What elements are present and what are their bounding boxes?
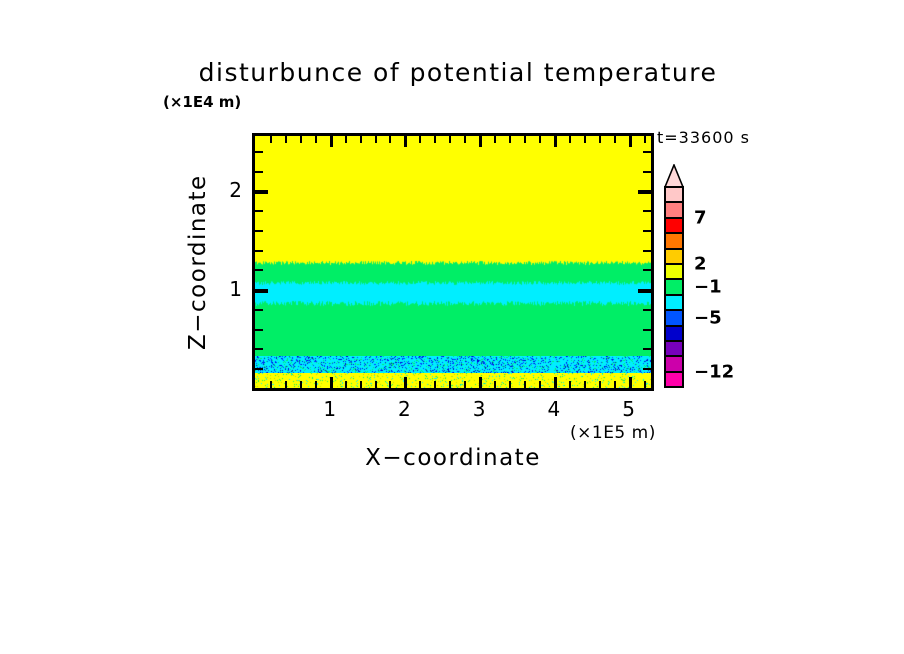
y-major-tick [255,190,268,194]
x-minor-tick-top [614,136,616,143]
y-minor-tick-right [643,309,651,311]
y-minor-tick-right [643,368,651,370]
y-minor-tick-right [643,250,651,252]
y-axis-title: Z−coordinate [185,165,211,359]
x-minor-tick-top [270,136,272,143]
x-major-tick-top [479,136,482,147]
x-minor-tick-top [524,136,526,143]
x-axis-title: X−coordinate [252,445,654,471]
x-minor-tick [389,381,391,388]
y-minor-tick [255,250,263,252]
y-major-tick-right [638,289,651,293]
x-minor-tick-top [464,136,466,143]
x-minor-tick-top [569,136,571,143]
x-minor-tick [464,381,466,388]
figure-canvas: disturbunce of potential temperature (×1… [0,0,904,654]
x-minor-tick [434,381,436,388]
colorbar-tick-label: 2 [694,253,707,274]
colorbar-tick-label: −12 [694,362,734,383]
contour-interface-jitter [255,280,651,286]
x-major-tick [404,377,407,388]
y-major-tick-right [638,190,651,194]
y-tick-label: 2 [216,178,242,202]
y-axis-unit-label: (×1E4 m) [163,93,241,111]
x-minor-tick [599,381,601,388]
x-minor-tick [539,381,541,388]
x-minor-tick-top [345,136,347,143]
x-major-tick [554,377,557,388]
y-minor-tick [255,348,263,350]
contour-band [255,303,651,358]
x-minor-tick [315,381,317,388]
x-tick-label: 2 [398,397,411,421]
contour-interface-jitter [255,300,651,307]
colorbar-tick-label: 7 [694,207,707,228]
y-minor-tick [255,368,263,370]
contour-interface-jitter [255,260,651,266]
noise-band-cyan [255,356,651,373]
x-minor-tick [285,381,287,388]
y-major-tick [255,289,268,293]
x-minor-tick-top [584,136,586,143]
y-minor-tick [255,230,263,232]
colorbar-overflow-arrow-icon [664,164,684,188]
x-major-tick-top [629,136,632,147]
x-minor-tick-top [434,136,436,143]
x-minor-tick-top [449,136,451,143]
y-minor-tick [255,309,263,311]
x-minor-tick-top [539,136,541,143]
x-minor-tick [375,381,377,388]
x-axis-unit-label: (×1E5 m) [570,423,656,443]
page-title: disturbunce of potential temperature [168,58,748,87]
x-minor-tick [270,381,272,388]
x-minor-tick [345,381,347,388]
x-minor-tick-top [599,136,601,143]
y-minor-tick [255,171,263,173]
y-tick-label: 1 [216,277,242,301]
x-major-tick-top [404,136,407,147]
y-minor-tick-right [643,171,651,173]
x-minor-tick [449,381,451,388]
x-minor-tick [300,381,302,388]
x-minor-tick-top [360,136,362,143]
x-minor-tick-top [419,136,421,143]
y-minor-tick [255,151,263,153]
x-minor-tick [494,381,496,388]
contour-band [255,136,651,263]
x-minor-tick [360,381,362,388]
x-minor-tick [644,381,646,388]
x-tick-label: 1 [323,397,336,421]
x-minor-tick-top [300,136,302,143]
y-minor-tick-right [643,151,651,153]
x-minor-tick-top [389,136,391,143]
y-minor-tick [255,269,263,271]
x-minor-tick [569,381,571,388]
x-major-tick [479,377,482,388]
x-tick-label: 3 [473,397,486,421]
y-minor-tick-right [643,348,651,350]
colorbar-tick-label: −5 [694,307,722,328]
x-major-tick-top [554,136,557,147]
y-minor-tick-right [643,230,651,232]
x-minor-tick-top [509,136,511,143]
y-minor-tick-right [643,210,651,212]
x-minor-tick-top [315,136,317,143]
y-minor-tick [255,329,263,331]
y-minor-tick-right [643,329,651,331]
x-major-tick [330,377,333,388]
x-minor-tick-top [494,136,496,143]
x-minor-tick-top [375,136,377,143]
x-tick-label: 5 [622,397,635,421]
x-minor-tick-top [285,136,287,143]
colorbar-tick-label: −1 [694,276,722,297]
x-major-tick-top [330,136,333,147]
time-annotation: t=33600 s [657,128,750,147]
x-major-tick [629,377,632,388]
y-minor-tick [255,210,263,212]
x-minor-tick-top [644,136,646,143]
x-minor-tick [614,381,616,388]
x-minor-tick [509,381,511,388]
x-minor-tick [584,381,586,388]
x-minor-tick [524,381,526,388]
contour-plot-area [252,133,654,391]
x-tick-label: 4 [547,397,560,421]
x-minor-tick [419,381,421,388]
colorbar-band [664,371,684,388]
y-minor-tick-right [643,269,651,271]
